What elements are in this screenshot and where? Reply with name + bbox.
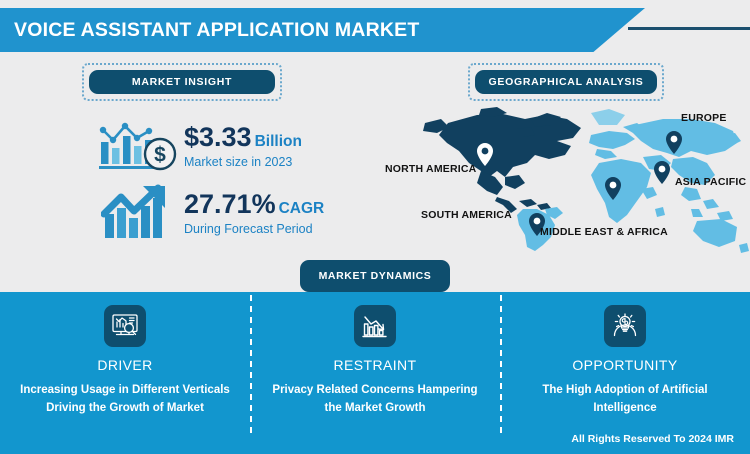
map-label-middle-east-africa: MIDDLE EAST & AFRICA bbox=[540, 226, 668, 238]
map-region-australia bbox=[693, 219, 749, 253]
map-label-north-america: NORTH AMERICA bbox=[385, 163, 476, 175]
map-region-asia bbox=[633, 119, 741, 221]
dynamics-title-opportunity: OPPORTUNITY bbox=[572, 357, 677, 373]
growth-arrow-icon bbox=[96, 184, 180, 242]
market-size-caption: Market size in 2023 bbox=[184, 151, 302, 169]
dynamics-column-driver: DRIVER Increasing Usage in Different Ver… bbox=[0, 292, 250, 454]
map-label-south-america: SOUTH AMERICA bbox=[421, 209, 512, 221]
svg-text:$: $ bbox=[154, 144, 166, 167]
lightbulb-dollar-icon bbox=[604, 305, 646, 347]
cagr-caption: During Forecast Period bbox=[184, 218, 324, 236]
header-accent-line bbox=[628, 27, 750, 30]
dynamics-description-opportunity: The High Adoption of Artificial Intellig… bbox=[518, 382, 733, 418]
badge-geographical-analysis: GEOGRAPHICAL ANALYSIS bbox=[468, 63, 664, 101]
dynamics-title-restraint: RESTRAINT bbox=[334, 357, 417, 373]
badge-market-insight-label: MARKET INSIGHT bbox=[89, 70, 275, 94]
dynamics-title-driver: DRIVER bbox=[97, 357, 152, 373]
market-size-number: $3.33 bbox=[184, 122, 252, 152]
badge-market-dynamics: MARKET DYNAMICS bbox=[300, 260, 450, 292]
map-pin-asia-pacific[interactable] bbox=[654, 161, 670, 184]
copyright-notice: All Rights Reserved To 2024 IMR bbox=[571, 433, 734, 445]
badge-geographical-analysis-label: GEOGRAPHICAL ANALYSIS bbox=[475, 70, 657, 94]
market-size-unit: Billion bbox=[252, 133, 302, 150]
world-map: NORTH AMERICA SOUTH AMERICA MIDDLE EAST … bbox=[385, 105, 750, 255]
stat-cagr: 27.71%CAGR During Forecast Period bbox=[96, 184, 324, 242]
stat-market-size: $ $3.33Billion Market size in 2023 bbox=[96, 118, 302, 174]
monitor-analytics-search-icon bbox=[104, 305, 146, 347]
dynamics-description-driver: Increasing Usage in Different Verticals … bbox=[18, 382, 233, 418]
page-header: VOICE ASSISTANT APPLICATION MARKET bbox=[0, 8, 750, 52]
market-dynamics-band: DRIVER Increasing Usage in Different Ver… bbox=[0, 292, 750, 454]
market-size-value: $3.33Billion bbox=[184, 123, 302, 151]
badge-market-insight: MARKET INSIGHT bbox=[82, 63, 282, 101]
page-title: VOICE ASSISTANT APPLICATION MARKET bbox=[14, 8, 419, 52]
bar-chart-dollar-icon: $ bbox=[96, 118, 180, 174]
dynamics-description-restraint: Privacy Related Concerns Hampering the M… bbox=[268, 382, 483, 418]
map-label-asia-pacific: ASIA PACIFIC bbox=[675, 176, 746, 188]
map-region-greenland bbox=[591, 109, 625, 125]
map-region-north-america bbox=[423, 107, 581, 213]
cagr-number: 27.71% bbox=[184, 189, 276, 219]
declining-bar-chart-icon bbox=[354, 305, 396, 347]
cagr-unit: CAGR bbox=[276, 200, 325, 217]
map-label-europe: EUROPE bbox=[681, 112, 727, 124]
cagr-value: 27.71%CAGR bbox=[184, 190, 324, 218]
dynamics-column-restraint: RESTRAINT Privacy Related Concerns Hampe… bbox=[250, 292, 500, 454]
dynamics-column-opportunity: OPPORTUNITY The High Adoption of Artific… bbox=[500, 292, 750, 454]
